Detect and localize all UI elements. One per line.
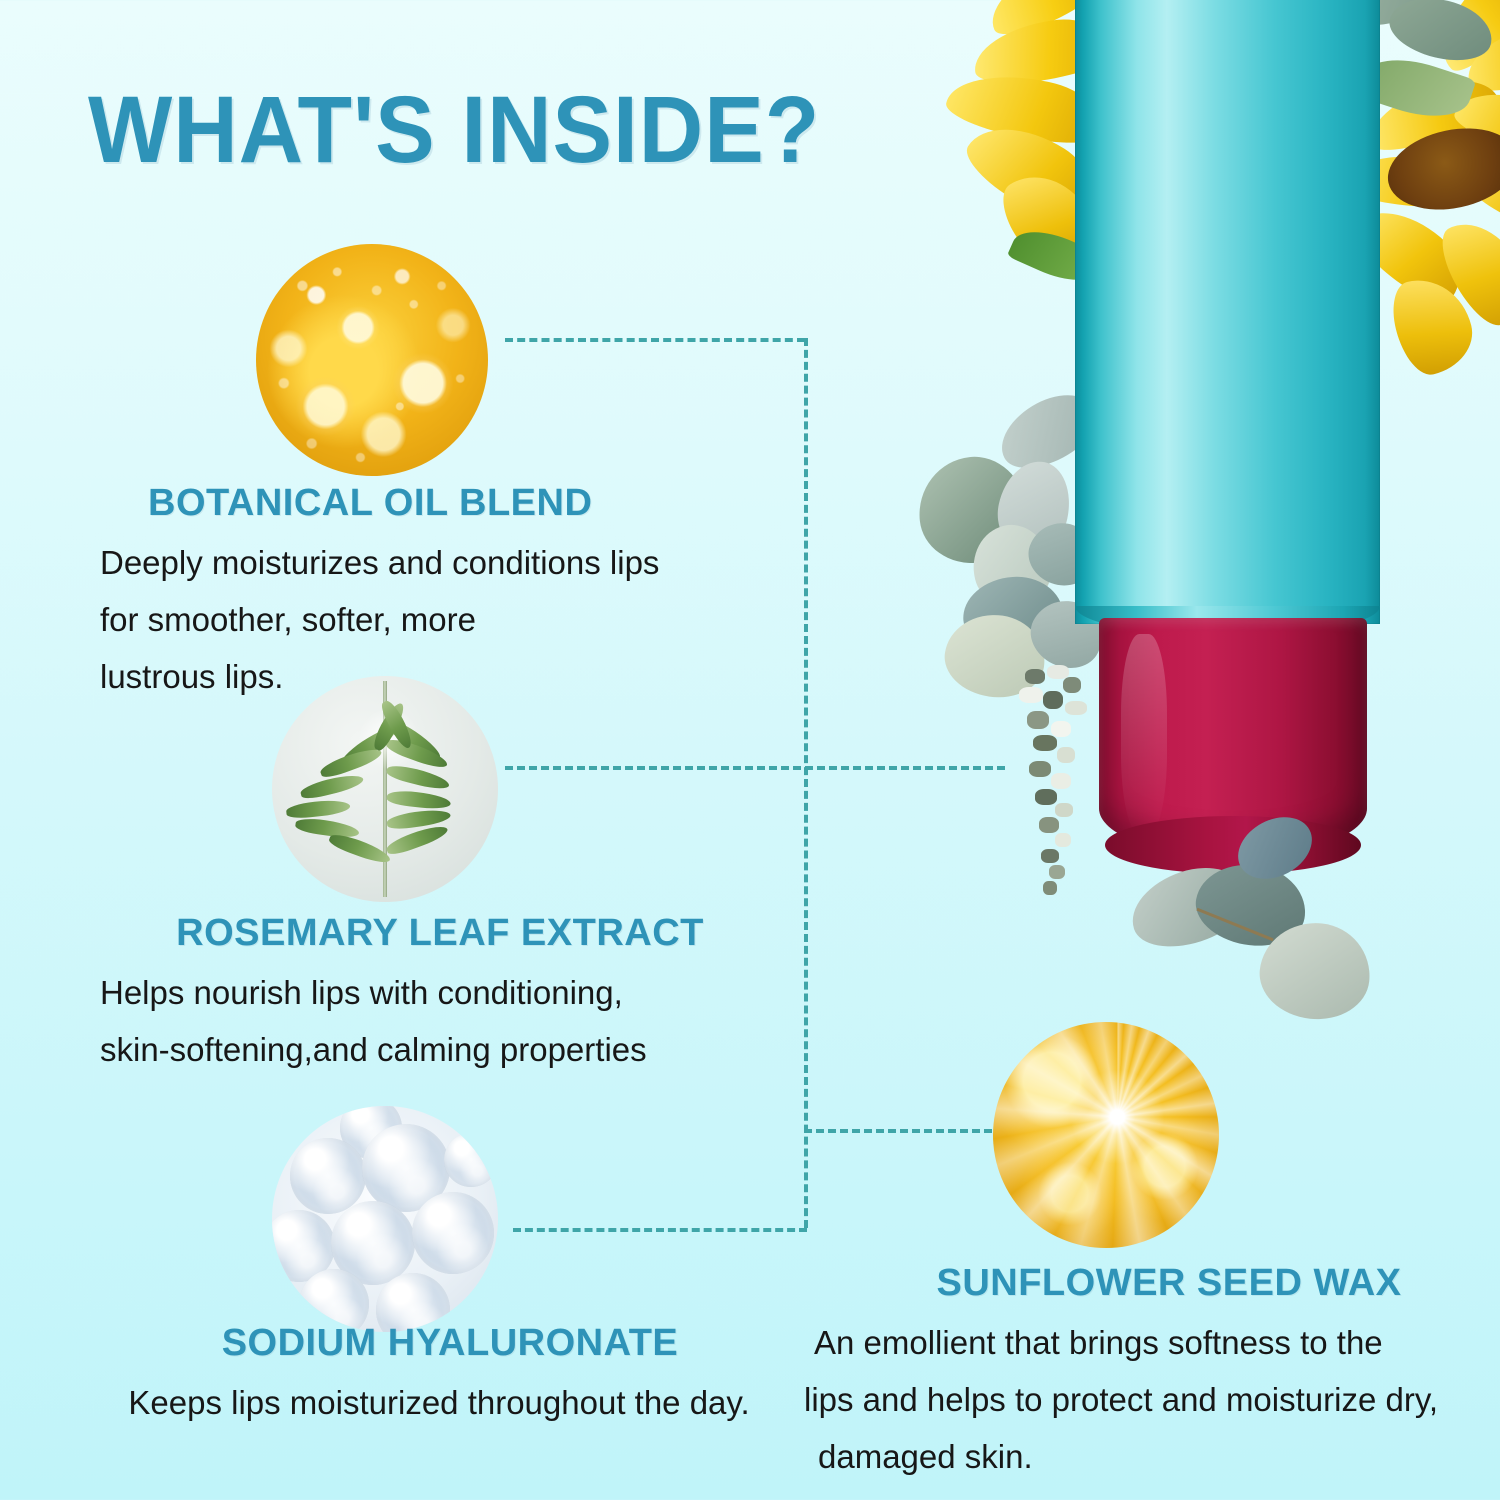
connector-sodium-horizontal	[513, 1228, 807, 1232]
ingredient-body-line: for smoother, softer, more	[100, 592, 740, 649]
ingredient-body-line: Deeply moisturizes and conditions lips	[100, 535, 740, 592]
ingredient-block-rosemary-leaf-extract: ROSEMARY LEAF EXTRACT Helps nourish lips…	[100, 912, 740, 1079]
swatch-rosemary-leaf-extract	[272, 676, 498, 902]
connector-sunflower-horizontal	[804, 1129, 1004, 1133]
ingredient-heading-rosemary-leaf-extract: ROSEMARY LEAF EXTRACT	[100, 912, 740, 955]
ingredient-block-sunflower-seed-wax: SUNFLOWER SEED WAX An emollient that bri…	[800, 1262, 1440, 1485]
ingredient-body-line: lips and helps to protect and moisturize…	[800, 1372, 1440, 1429]
ingredient-body-line: Keeps lips moisturized throughout the da…	[90, 1375, 780, 1432]
water-bubble	[290, 1138, 366, 1214]
lip-balm-tube	[1075, 0, 1380, 884]
ingredient-heading-botanical-oil-blend: BOTANICAL OIL BLEND	[100, 482, 740, 525]
connector-rosemary-horizontal	[505, 766, 1005, 770]
tube-body	[1075, 0, 1380, 624]
ingredient-body-line: Helps nourish lips with conditioning,	[100, 965, 740, 1022]
swatch-sodium-hyaluronate	[272, 1106, 498, 1332]
infographic-canvas: BOTANICAL OIL BLEND Deeply moisturizes a…	[0, 0, 1500, 1500]
ingredient-body-line: skin-softening,and calming properties	[100, 1022, 740, 1079]
ingredient-body-line: An emollient that brings softness to the	[800, 1315, 1440, 1372]
ingredient-block-botanical-oil-blend: BOTANICAL OIL BLEND Deeply moisturizes a…	[100, 482, 740, 705]
swatch-botanical-oil-blend	[256, 244, 488, 476]
ingredient-heading-sodium-hyaluronate: SODIUM HYALURONATE	[90, 1322, 780, 1365]
connector-vertical-main	[804, 338, 808, 1228]
water-bubble	[412, 1192, 494, 1274]
swatch-sunflower-seed-wax	[993, 1022, 1219, 1248]
ingredient-body-line: damaged skin.	[800, 1429, 1440, 1486]
eucalyptus-lower	[1120, 865, 1420, 1065]
ingredient-block-sodium-hyaluronate: SODIUM HYALURONATE Keeps lips moisturize…	[90, 1322, 780, 1432]
tube-base-shine	[1121, 634, 1167, 834]
page-title: WHAT'S INSIDE?	[88, 76, 820, 185]
connector-top-horizontal	[505, 338, 805, 342]
water-bubble	[444, 1133, 498, 1187]
ingredient-heading-sunflower-seed-wax: SUNFLOWER SEED WAX	[800, 1262, 1440, 1305]
